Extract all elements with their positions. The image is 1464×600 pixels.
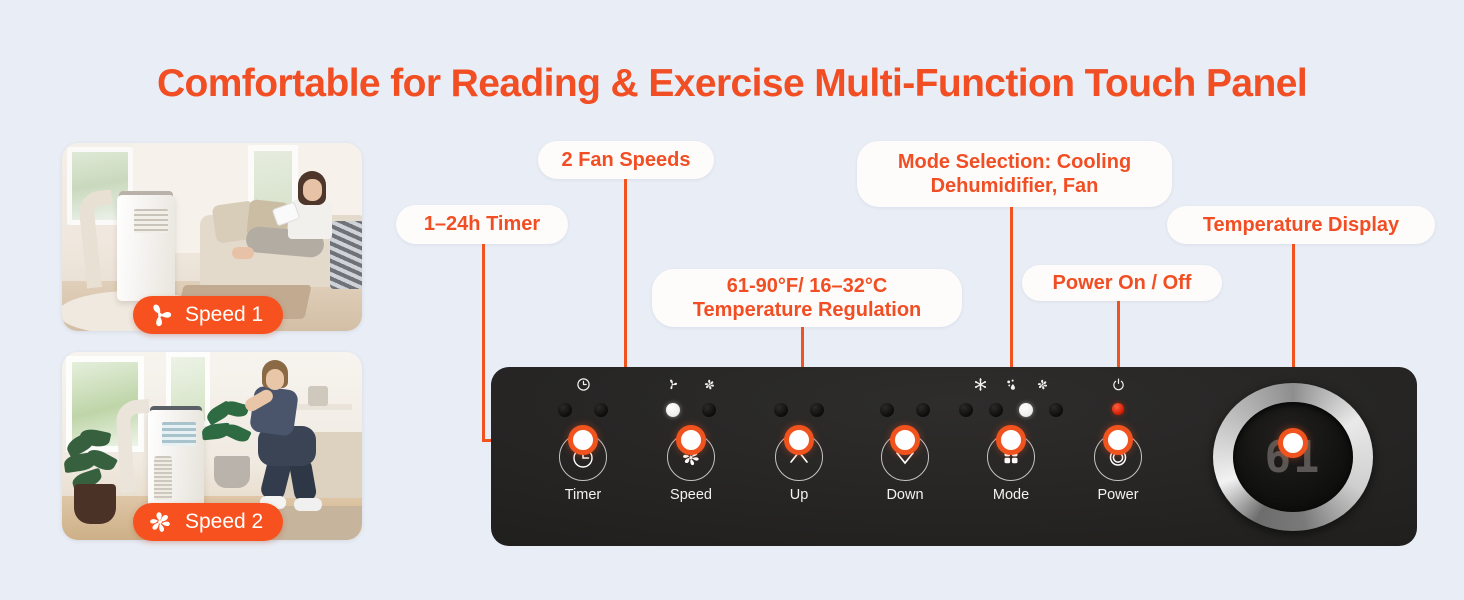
clock-icon [576, 377, 591, 392]
up-button-label: Up [753, 487, 845, 503]
callout-timer-text: 1–24h Timer [424, 212, 540, 236]
water-drop-icon [1004, 377, 1019, 392]
speed-button-label: Speed [645, 487, 737, 503]
marker-dot-up [784, 425, 814, 455]
fan-low-icon [665, 377, 680, 392]
callout-power-on-off: Power On / Off [1022, 265, 1222, 301]
mode-led-cooling [959, 403, 973, 417]
marker-dot-timer [568, 425, 598, 455]
up-led-1 [774, 403, 788, 417]
callout-temp-line1: 61-90°F/ 16–32°C [693, 274, 922, 298]
speed-2-label: Speed 2 [185, 510, 263, 534]
marker-dot-display [1278, 428, 1308, 458]
mode-led-dehumidifier [989, 403, 1003, 417]
timer-button-label: Timer [537, 487, 629, 503]
speed-led-low [666, 403, 680, 417]
callout-mode-line1: Mode Selection: Cooling [898, 150, 1131, 174]
mode-led-fan [1019, 403, 1033, 417]
callout-fan-speeds: 2 Fan Speeds [538, 141, 714, 179]
speed-2-badge: Speed 2 [133, 503, 283, 541]
callout-display-text: Temperature Display [1203, 213, 1399, 237]
speed-1-badge: Speed 1 [133, 296, 283, 334]
callout-power-text: Power On / Off [1053, 271, 1192, 295]
leader-line-timer-vertical [482, 244, 485, 442]
callout-mode-line2: Dehumidifier, Fan [898, 174, 1131, 198]
timer-led-1 [558, 403, 572, 417]
fan-multi-blade-icon [145, 507, 175, 537]
marker-dot-speed [676, 425, 706, 455]
snowflake-icon [973, 377, 988, 392]
marker-dot-power [1103, 425, 1133, 455]
mode-button-label: Mode [965, 487, 1057, 503]
callout-timer: 1–24h Timer [396, 205, 568, 244]
fan-mode-icon [1035, 377, 1050, 392]
callout-temp-line2: Temperature Regulation [693, 298, 922, 322]
down-led-2 [916, 403, 930, 417]
fan-3-blade-icon [145, 300, 175, 330]
callout-temperature-regulation: 61-90°F/ 16–32°C Temperature Regulation [652, 269, 962, 327]
down-led-1 [880, 403, 894, 417]
power-icon [1111, 377, 1126, 392]
power-button-label: Power [1072, 487, 1164, 503]
mode-led-extra [1049, 403, 1063, 417]
fan-high-icon [702, 377, 717, 392]
up-led-2 [810, 403, 824, 417]
callout-mode-selection: Mode Selection: Cooling Dehumidifier, Fa… [857, 141, 1172, 207]
infographic-root: Comfortable for Reading & Exercise Multi… [0, 0, 1464, 600]
power-led [1112, 403, 1124, 415]
marker-dot-mode [996, 425, 1026, 455]
timer-led-2 [594, 403, 608, 417]
page-title: Comfortable for Reading & Exercise Multi… [0, 62, 1464, 106]
marker-dot-down [890, 425, 920, 455]
speed-1-label: Speed 1 [185, 303, 263, 327]
callout-fan-speeds-text: 2 Fan Speeds [562, 148, 691, 172]
speed-led-high [702, 403, 716, 417]
down-button-label: Down [859, 487, 951, 503]
callout-temperature-display: Temperature Display [1167, 206, 1435, 244]
